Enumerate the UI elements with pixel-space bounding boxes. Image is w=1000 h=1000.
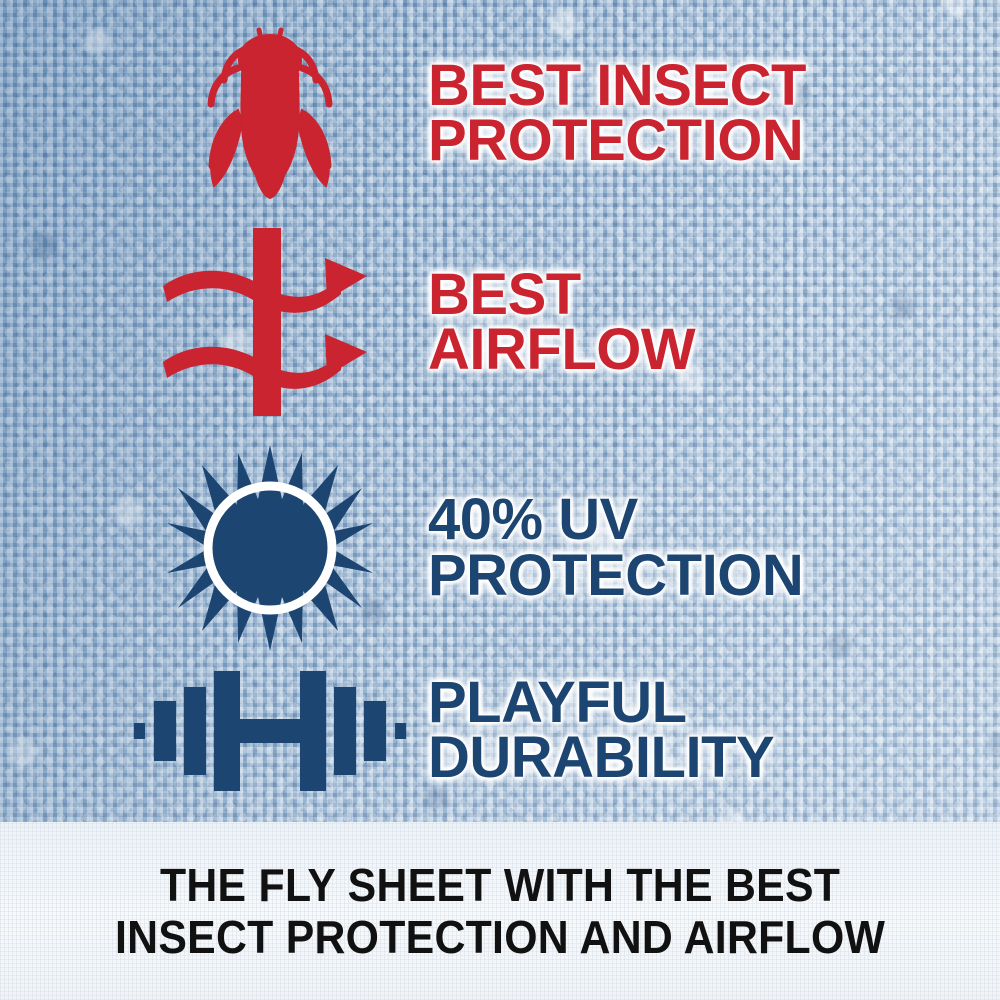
feature-label-insect-protection: BEST INSECT PROTECTION [428,58,950,168]
feature-row-uv-protection: 40% UV PROTECTION [120,440,950,655]
infographic-poster: BEST INSECT PROTECTION [0,0,1000,1000]
feature-label-airflow: BEST AIRFLOW [428,267,950,377]
caption-headline: THE FLY SHEET WITH THE BEST INSECT PROTE… [115,859,885,964]
feature-label-cell: 40% UV PROTECTION [420,492,950,602]
feature-label-cell: BEST AIRFLOW [420,267,950,377]
feature-label-cell: BEST INSECT PROTECTION [420,58,950,168]
airflow-arrows-icon [155,222,385,422]
feature-row-durability: PLAYFUL DURABILITY [120,650,950,810]
feature-row-airflow: BEST AIRFLOW [120,222,950,422]
airflow-barrier-bar [253,228,281,416]
sun-icon [165,443,375,653]
feature-icon-cell [120,665,420,795]
feature-label-cell: PLAYFUL DURABILITY [420,675,950,785]
feature-icon-cell [120,443,420,653]
feature-list: BEST INSECT PROTECTION [0,0,1000,822]
fly-icon [180,18,360,208]
feature-icon-cell [120,18,420,208]
caption-bar: THE FLY SHEET WITH THE BEST INSECT PROTE… [0,822,1000,1000]
dumbbell-icon [132,665,408,795]
feature-label-uv-protection: 40% UV PROTECTION [428,492,950,602]
feature-row-insect-protection: BEST INSECT PROTECTION [120,18,950,208]
feature-icon-cell [120,222,420,422]
feature-label-durability: PLAYFUL DURABILITY [428,675,950,785]
